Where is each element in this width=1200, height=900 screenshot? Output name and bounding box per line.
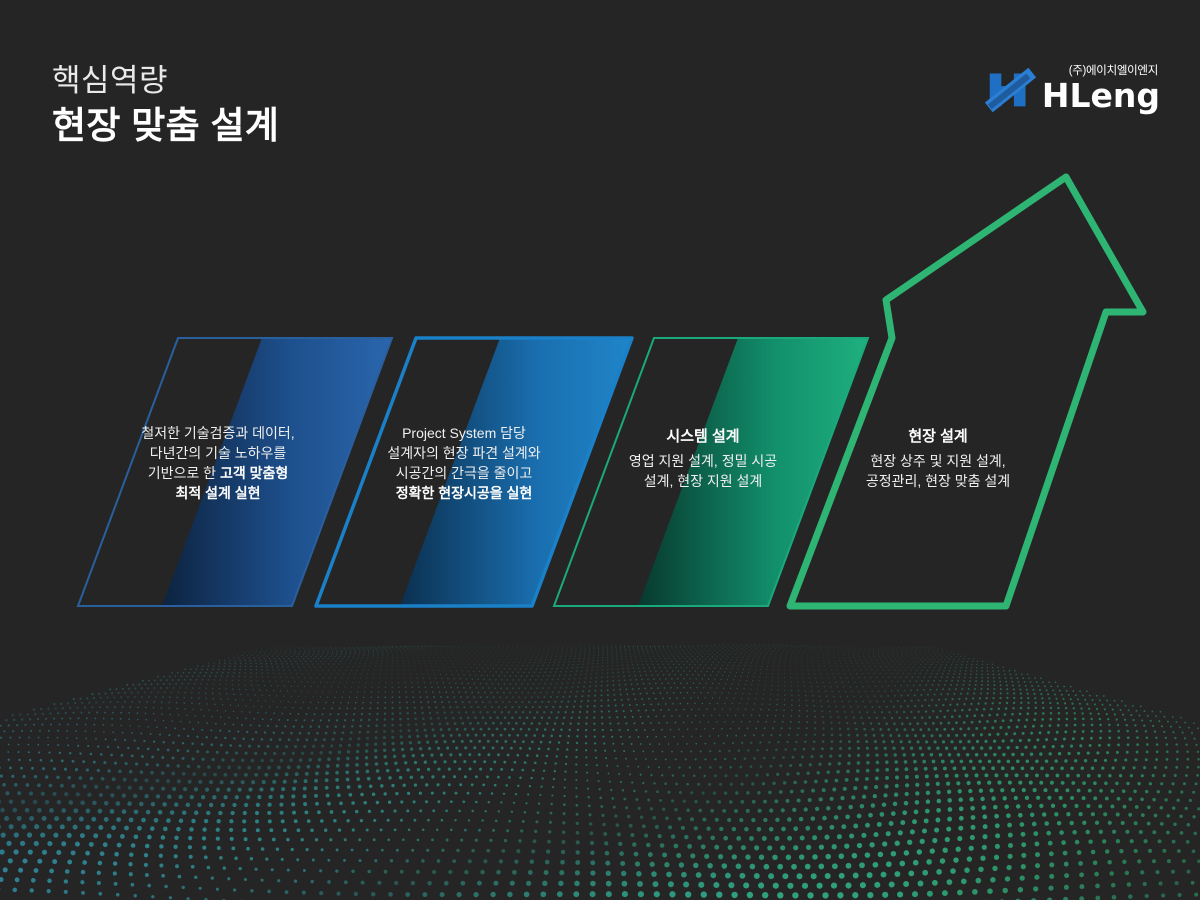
hl-monogram-icon (982, 60, 1040, 118)
panel-2-line-4: 정확한 현장시공을 실현 (352, 484, 576, 504)
panel-4-body: 현장 상주 및 지원 설계, 공정관리, 현장 맞춤 설계 (826, 452, 1050, 492)
panel-3-heading: 시스템 설계 (592, 426, 814, 447)
panel-1-line-2: 다년간의 기술 노하우를 (108, 444, 328, 464)
logo-text: (주)에이치엘이엔지 HLeng (1042, 66, 1160, 112)
panel-4-heading: 현장 설계 (826, 426, 1050, 447)
panel-3-text: 시스템 설계 영업 지원 설계, 정밀 시공 설계, 현장 지원 설계 (592, 426, 814, 492)
panel-1-line-1: 철저한 기술검증과 데이터, (108, 424, 328, 444)
panel-4-line-2: 공정관리, 현장 맞춤 설계 (826, 472, 1050, 492)
dot-wave-background (0, 640, 1200, 900)
panel-1-line-3-bold: 고객 맞춤형 (220, 465, 288, 481)
slide-root: 핵심역량 현장 맞춤 설계 (주)에이치엘이엔지 HLeng 철저한 기술검증과… (0, 0, 1200, 900)
page-title: 현장 맞춤 설계 (52, 103, 652, 149)
panel-1-line-3: 기반으로 한 고객 맞춤형 (108, 464, 328, 484)
panel-4-line-1: 현장 상주 및 지원 설계, (826, 452, 1050, 472)
panel-3-line-2: 설계, 현장 지원 설계 (592, 472, 814, 492)
slide-eyebrow: 핵심역량 (52, 62, 652, 99)
panel-3-body: 영업 지원 설계, 정밀 시공 설계, 현장 지원 설계 (592, 452, 814, 492)
arrow-outline (790, 177, 1143, 606)
panel-1-line-3-plain: 기반으로 한 (148, 465, 220, 481)
panel-2-line-1: Project System 담당 (352, 424, 576, 444)
panel-1-line-4: 최적 설계 실현 (108, 484, 328, 504)
panel-2-body: Project System 담당 설계자의 현장 파견 설계와 시공간의 간극… (352, 424, 576, 504)
panel-2-text: Project System 담당 설계자의 현장 파견 설계와 시공간의 간극… (352, 424, 576, 504)
panel-2-line-3: 시공간의 간극을 줄이고 (352, 464, 576, 484)
slide-header: 핵심역량 현장 맞춤 설계 (52, 62, 652, 149)
company-logo: (주)에이치엘이엔지 HLeng (982, 58, 1160, 120)
panel-1-body: 철저한 기술검증과 데이터, 다년간의 기술 노하우를 기반으로 한 고객 맞춤… (108, 424, 328, 504)
panel-4-text: 현장 설계 현장 상주 및 지원 설계, 공정관리, 현장 맞춤 설계 (826, 426, 1050, 492)
panel-1-text: 철저한 기술검증과 데이터, 다년간의 기술 노하우를 기반으로 한 고객 맞춤… (108, 424, 328, 504)
panel-3-line-1: 영업 지원 설계, 정밀 시공 (592, 452, 814, 472)
panel-2-line-2: 설계자의 현장 파견 설계와 (352, 444, 576, 464)
logo-wordmark: HLeng (1042, 79, 1160, 112)
